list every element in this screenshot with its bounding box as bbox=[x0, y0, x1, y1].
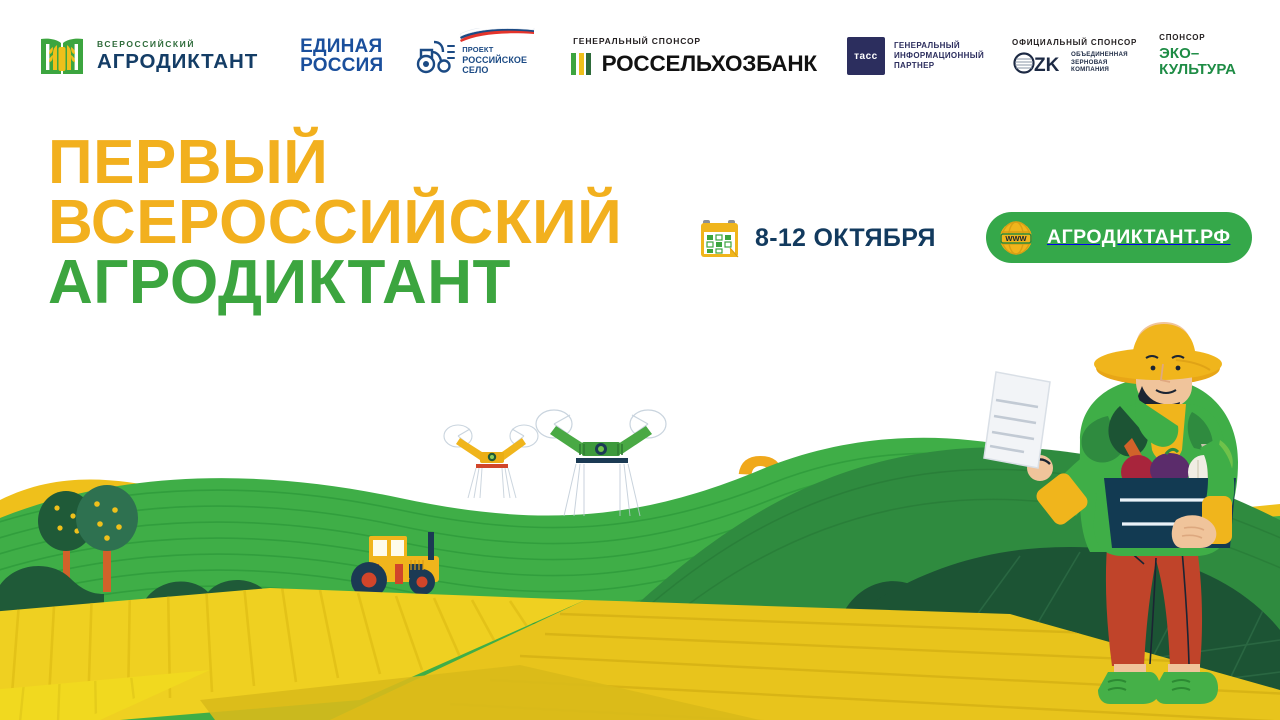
edinaya-rossiya-logo[interactable]: ЕДИНАЯ РОССИЯ bbox=[300, 37, 383, 76]
event-date: 8-12 ОКТЯБРЯ bbox=[699, 216, 936, 260]
tass-logo[interactable]: тасс ГЕНЕРАЛЬНЫЙ ИНФОРМАЦИОННЫЙ ПАРТНЕР bbox=[847, 37, 984, 75]
ozk-line-2: ЗЕРНОВАЯ bbox=[1071, 59, 1128, 67]
proekt-rossiyskoe-selo-logo[interactable]: ПРОЕКТ РОССИЙСКОЕ СЕЛО bbox=[415, 36, 527, 76]
headline-line-2: ВСЕРОССИЙСКИЙ bbox=[48, 193, 622, 253]
event-date-text: 8-12 ОКТЯБРЯ bbox=[755, 224, 936, 253]
headline-line-1: ПЕРВЫЙ bbox=[48, 133, 622, 193]
svg-text:ZK: ZK bbox=[1034, 55, 1060, 74]
rshb-name: РОССЕЛЬХОЗБАНК bbox=[602, 51, 817, 77]
prs-line-3: СЕЛО bbox=[462, 65, 527, 75]
tass-line-3: ПАРТНЕР bbox=[894, 61, 984, 71]
svg-text:WWW: WWW bbox=[1005, 234, 1027, 243]
prs-line-1: ПРОЕКТ bbox=[462, 46, 527, 54]
agrodiktant-name: АГРОДИКТАНТ bbox=[97, 52, 258, 73]
ozk-kicker: ОФИЦИАЛЬНЫЙ СПОНСОР bbox=[1012, 38, 1137, 47]
www-globe-icon: WWW bbox=[998, 220, 1034, 256]
rosselkhozbank-logo[interactable]: ГЕНЕРАЛЬНЫЙ СПОНСОР РОССЕЛЬХОЗБАНК bbox=[571, 36, 817, 77]
tass-line-2: ИНФОРМАЦИОННЫЙ bbox=[894, 51, 984, 61]
eco-kultura-logo[interactable]: СПОНСОР ЭКО– КУЛЬТУРА bbox=[1159, 34, 1236, 78]
prs-line-2: РОССИЙСКОЕ bbox=[462, 55, 527, 65]
website-button[interactable]: WWW АГРОДИКТАНТ.РФ bbox=[986, 212, 1252, 263]
tractor-icon bbox=[415, 36, 457, 76]
er-line-2: РОССИЯ bbox=[300, 56, 383, 75]
headline: ПЕРВЫЙ ВСЕРОССИЙСКИЙ АГРОДИКТАНТ bbox=[48, 133, 622, 312]
eco-kicker: СПОНСОР bbox=[1159, 34, 1236, 42]
russian-flag-swoosh-icon bbox=[458, 28, 536, 45]
tass-line-1: ГЕНЕРАЛЬНЫЙ bbox=[894, 41, 984, 51]
agrodiktant-kicker: ВСЕРОССИЙСКИЙ bbox=[97, 40, 258, 49]
promo-banner: 2025 bbox=[0, 0, 1280, 720]
rshb-bars-icon bbox=[571, 53, 594, 75]
ozk-mark-icon: ZK bbox=[1012, 52, 1064, 74]
calendar-icon bbox=[699, 216, 740, 260]
headline-line-3: АГРОДИКТАНТ bbox=[48, 253, 622, 313]
ozk-line-3: КОМПАНИЯ bbox=[1071, 66, 1128, 74]
tass-mark-icon: тасс bbox=[847, 37, 885, 75]
eco-line-1: ЭКО– bbox=[1159, 46, 1236, 62]
tass-mark-text: тасс bbox=[854, 51, 878, 62]
ozk-logo[interactable]: ОФИЦИАЛЬНЫЙ СПОНСОР ZK ОБЪЕДИНЕННАЯ ЗЕРН… bbox=[1012, 38, 1137, 74]
sponsor-bar: ВСЕРОССИЙСКИЙ АГРОДИКТАНТ ЕДИНАЯ РОССИЯ bbox=[0, 0, 1280, 112]
website-button-label: АГРОДИКТАНТ.РФ bbox=[1047, 226, 1230, 249]
ozk-line-1: ОБЪЕДИНЕННАЯ bbox=[1071, 51, 1128, 59]
farmer-character bbox=[980, 320, 1280, 720]
open-book-wheat-icon bbox=[38, 33, 86, 80]
agrodiktant-logo[interactable]: ВСЕРОССИЙСКИЙ АГРОДИКТАНТ bbox=[38, 33, 258, 80]
eco-line-2: КУЛЬТУРА bbox=[1159, 62, 1236, 78]
rshb-kicker: ГЕНЕРАЛЬНЫЙ СПОНСОР bbox=[571, 36, 817, 46]
er-line-1: ЕДИНАЯ bbox=[300, 37, 383, 56]
